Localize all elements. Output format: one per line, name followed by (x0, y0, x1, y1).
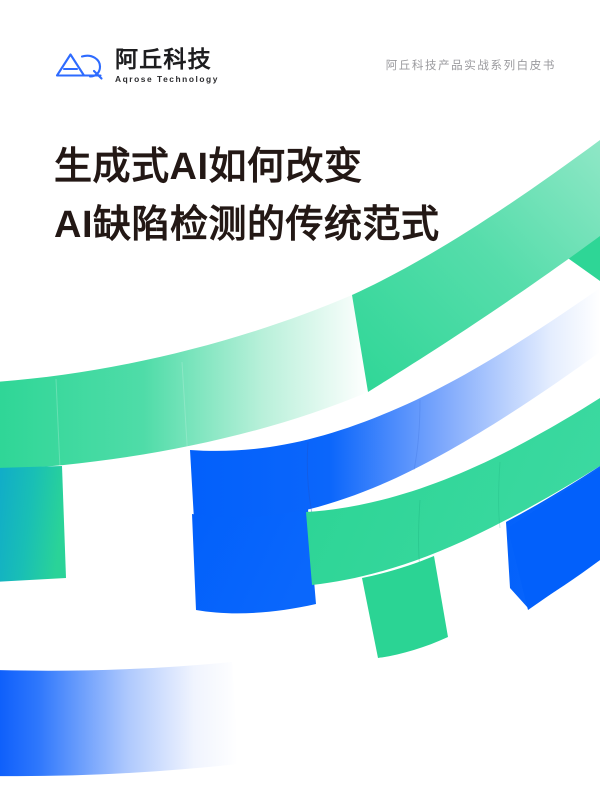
lower-green-ribbon (306, 398, 600, 585)
whitepaper-cover-page: 阿丘科技 Aqrose Technology 阿丘科技产品实战系列白皮书 生成式… (0, 0, 600, 800)
mid-blue-ribbon-tab (192, 509, 316, 613)
header-tagline: 阿丘科技产品实战系列白皮书 (386, 57, 556, 73)
page-title-line-1: 生成式AI如何改变 (54, 138, 440, 196)
upper-green-ribbon (0, 295, 368, 470)
brand-wordmark: 阿丘科技 Aqrose Technology (115, 46, 219, 83)
cover-artwork (0, 0, 600, 800)
bottom-blue-ribbon (0, 662, 238, 776)
lower-blue-ribbon-tab (506, 466, 600, 610)
page-title-line-2: AI缺陷检测的传统范式 (54, 196, 440, 254)
brand-name-cn: 阿丘科技 (115, 47, 219, 71)
brand-logo: 阿丘科技 Aqrose Technology (54, 38, 219, 92)
lower-green-ribbon-tab (312, 556, 448, 664)
green-triangle-accent (541, 192, 600, 281)
cover-header: 阿丘科技 Aqrose Technology 阿丘科技产品实战系列白皮书 (0, 38, 600, 92)
aqrose-aq-monogram-logo (54, 48, 106, 82)
teal-tab-left (0, 466, 66, 582)
brand-name-en: Aqrose Technology (115, 74, 219, 84)
page-title: 生成式AI如何改变 AI缺陷检测的传统范式 (54, 138, 440, 254)
mid-blue-ribbon (190, 288, 600, 523)
